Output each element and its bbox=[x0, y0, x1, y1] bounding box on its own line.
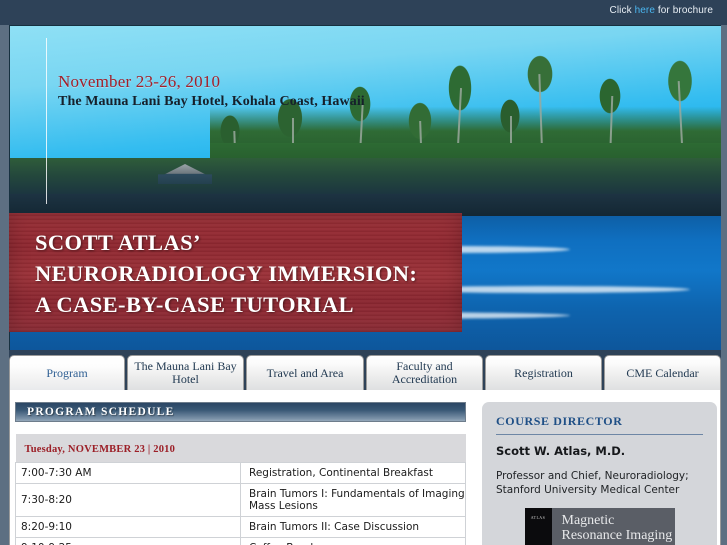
schedule-time: 8:20-9:10 bbox=[16, 517, 241, 538]
page-right-edge bbox=[721, 25, 727, 545]
tab-program[interactable]: Program bbox=[9, 355, 125, 390]
content-area: PROGRAM SCHEDULE Tuesday, NOVEMBER 23 | … bbox=[9, 390, 721, 545]
page-root: Click here for brochure November bbox=[0, 0, 727, 545]
book-title: Magnetic Resonance Imaging bbox=[552, 508, 675, 545]
brochure-prefix-text: Click bbox=[610, 5, 635, 16]
schedule-table: Tuesday, NOVEMBER 23 | 2010 7:00-7:30 AM… bbox=[15, 434, 466, 545]
tab-program-label: Program bbox=[42, 367, 91, 380]
course-title-banner: SCOTT ATLAS’ NEURORADIOLOGY IMMERSION: A… bbox=[9, 213, 462, 332]
palm-trunk-icon bbox=[538, 74, 543, 168]
tab-cme-calendar-label: CME Calendar bbox=[622, 367, 702, 380]
event-venue: The Mauna Lani Bay Hotel, Kohala Coast, … bbox=[58, 94, 365, 110]
schedule-date-heading: Tuesday, NOVEMBER 23 | 2010 bbox=[25, 444, 176, 455]
course-director-box: COURSE DIRECTOR Scott W. Atlas, M.D. Pro… bbox=[482, 402, 717, 545]
schedule-time: 7:00-7:30 AM bbox=[16, 463, 241, 484]
tab-faculty-and-accreditation[interactable]: Faculty and Accreditation bbox=[366, 355, 483, 390]
brochure-link[interactable]: here bbox=[635, 5, 655, 16]
tab-the-mauna-lani-bay-hotel[interactable]: The Mauna Lani Bay Hotel bbox=[127, 355, 244, 390]
section-title: PROGRAM SCHEDULE bbox=[27, 406, 175, 418]
hero-vertical-rule bbox=[46, 38, 47, 204]
course-director-heading: COURSE DIRECTOR bbox=[496, 414, 703, 435]
hero-headland bbox=[10, 158, 721, 196]
tab-registration[interactable]: Registration bbox=[485, 355, 602, 390]
table-row[interactable]: 7:30-8:20 Brain Tumors I: Fundamentals o… bbox=[16, 484, 466, 517]
palm-trunk-icon bbox=[456, 88, 462, 166]
tab-faculty-and-accreditation-label: Faculty and Accreditation bbox=[367, 360, 482, 386]
schedule-description: Registration, Continental Breakfast bbox=[241, 463, 466, 484]
page-left-edge bbox=[0, 25, 9, 545]
schedule-description: Brain Tumors I: Fundamentals of Imaging … bbox=[241, 484, 466, 517]
tab-registration-label: Registration bbox=[510, 367, 577, 380]
event-dates: November 23-26, 2010 bbox=[58, 72, 220, 92]
program-schedule-panel: PROGRAM SCHEDULE Tuesday, NOVEMBER 23 | … bbox=[15, 402, 466, 545]
tab-travel-and-area-label: Travel and Area bbox=[263, 367, 348, 380]
tab-the-mauna-lani-bay-hotel-label: The Mauna Lani Bay Hotel bbox=[128, 360, 243, 386]
brochure-callout: Click here for brochure bbox=[610, 5, 713, 16]
course-title-line-1: SCOTT ATLAS’ bbox=[35, 230, 201, 256]
schedule-date-heading-row: Tuesday, NOVEMBER 23 | 2010 bbox=[16, 434, 466, 463]
course-title-line-2: NEURORADIOLOGY IMMERSION: bbox=[35, 261, 417, 287]
book-spine: ATLAS bbox=[525, 508, 552, 545]
sidebar: COURSE DIRECTOR Scott W. Atlas, M.D. Pro… bbox=[482, 402, 717, 545]
book-title-line-2: Resonance Imaging bbox=[562, 528, 675, 543]
schedule-description: Coffee Break bbox=[241, 538, 466, 545]
schedule-date-heading-cell: Tuesday, NOVEMBER 23 | 2010 bbox=[16, 434, 466, 463]
palm-trunk-icon bbox=[678, 81, 685, 169]
book-spine-label: ATLAS bbox=[531, 515, 545, 520]
course-title-line-3: A CASE-BY-CASE TUTORIAL bbox=[35, 292, 354, 318]
primary-nav-tabs: Program The Mauna Lani Bay Hotel Travel … bbox=[9, 355, 721, 390]
schedule-time: 9:10-9:25 bbox=[16, 538, 241, 545]
top-utility-bar: Click here for brochure bbox=[0, 0, 727, 25]
course-director-affiliation: Professor and Chief, Neuroradiology; Sta… bbox=[496, 469, 703, 497]
schedule-time: 7:30-8:20 bbox=[16, 484, 241, 517]
book-cover-thumbnail[interactable]: ATLAS Magnetic Resonance Imaging bbox=[525, 508, 675, 545]
book-title-line-1: Magnetic bbox=[562, 513, 675, 528]
table-row[interactable]: 9:10-9:25 Coffee Break bbox=[16, 538, 466, 545]
tab-travel-and-area[interactable]: Travel and Area bbox=[246, 355, 364, 390]
table-row[interactable]: 8:20-9:10 Brain Tumors II: Case Discussi… bbox=[16, 517, 466, 538]
tab-cme-calendar[interactable]: CME Calendar bbox=[604, 355, 721, 390]
brochure-suffix-text: for brochure bbox=[655, 5, 713, 16]
course-director-name: Scott W. Atlas, M.D. bbox=[496, 444, 703, 458]
schedule-description: Brain Tumors II: Case Discussion bbox=[241, 517, 466, 538]
table-row[interactable]: 7:00-7:30 AM Registration, Continental B… bbox=[16, 463, 466, 484]
section-header-program-schedule: PROGRAM SCHEDULE bbox=[15, 402, 466, 422]
